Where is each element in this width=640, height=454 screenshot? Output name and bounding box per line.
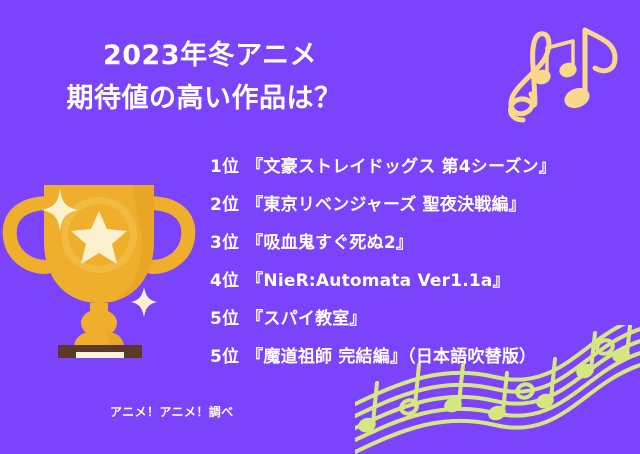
title-line-2: 期待値の高い作品は？ — [0, 77, 420, 120]
rank-title: 『東京リベンジャーズ 聖夜決戦編』 — [246, 195, 526, 215]
rank-position: 5位 — [210, 309, 239, 329]
ranking-row: 5位『スパイ教室』 — [210, 300, 556, 338]
trophy-icon — [2, 163, 197, 358]
ranking-row: 1位『文豪ストレイドッグス 第4シーズン』 — [210, 148, 556, 186]
music-notes-icon — [487, 14, 637, 126]
ranking-row: 3位『吸血鬼すぐ死ぬ2』 — [210, 224, 556, 262]
source-credit: アニメ！アニメ！調べ — [110, 403, 234, 420]
rank-position: 4位 — [210, 271, 239, 291]
rank-title: 『文豪ストレイドッグス 第4シーズン』 — [246, 157, 556, 177]
ranking-row: 4位『NieR:Automata Ver1.1a』 — [210, 262, 556, 300]
rank-position: 3位 — [210, 233, 239, 253]
rank-title: 『魔道祖師 完結編』（日本語吹替版） — [246, 347, 536, 367]
ranking-row: 5位『魔道祖師 完結編』（日本語吹替版） — [210, 338, 556, 376]
poster-canvas: 2023年冬アニメ 期待値の高い作品は？ 1位『文豪ストレイドッグス 第4シーズ… — [0, 0, 640, 454]
ranking-list: 1位『文豪ストレイドッグス 第4シーズン』 2位『東京リベンジャーズ 聖夜決戦編… — [210, 148, 556, 376]
ranking-row: 2位『東京リベンジャーズ 聖夜決戦編』 — [210, 186, 556, 224]
rank-title: 『吸血鬼すぐ死ぬ2』 — [246, 233, 413, 253]
page-title: 2023年冬アニメ 期待値の高い作品は？ — [0, 34, 420, 120]
rank-title: 『スパイ教室』 — [246, 309, 366, 329]
title-line-1: 2023年冬アニメ — [0, 34, 420, 77]
rank-position: 1位 — [210, 157, 239, 177]
rank-position: 5位 — [210, 347, 239, 367]
rank-position: 2位 — [210, 195, 239, 215]
rank-title: 『NieR:Automata Ver1.1a』 — [246, 271, 510, 291]
